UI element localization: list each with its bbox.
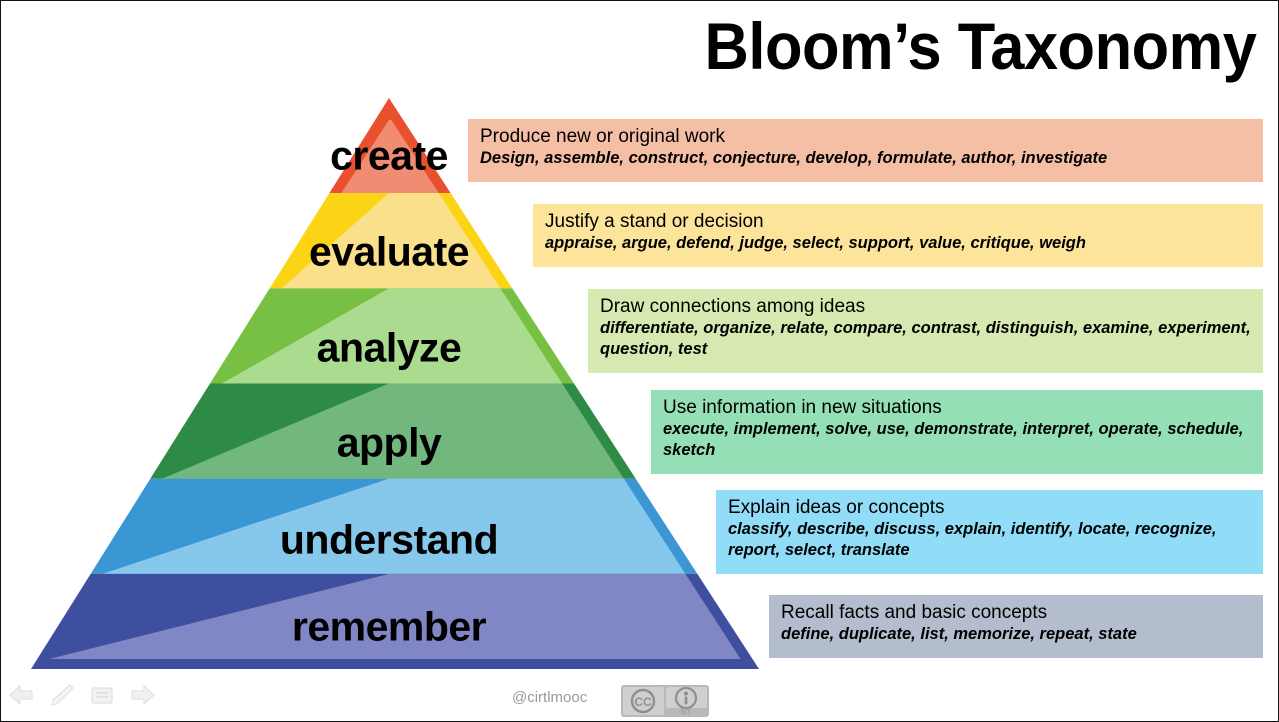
notes-icon[interactable] (89, 683, 115, 707)
pyramid-label-understand: understand (280, 517, 498, 564)
forward-arrow-icon[interactable] (129, 683, 157, 707)
pyramid-label-analyze: analyze (317, 325, 462, 372)
description-box-remember: Recall facts and basic conceptsdefine, d… (769, 595, 1263, 658)
back-arrow-icon[interactable] (7, 683, 35, 707)
credit-handle: @cirtlmooc (512, 689, 587, 706)
description-verbs-apply: execute, implement, solve, use, demonstr… (663, 419, 1263, 461)
description-verbs-create: Design, assemble, construct, conjecture,… (480, 148, 1263, 169)
description-box-evaluate: Justify a stand or decisionappraise, arg… (533, 204, 1263, 267)
description-heading-create: Produce new or original work (480, 125, 1263, 148)
by-text: BY (680, 707, 692, 716)
description-heading-apply: Use information in new situations (663, 396, 1263, 419)
description-verbs-remember: define, duplicate, list, memorize, repea… (781, 624, 1263, 645)
pyramid-label-apply: apply (337, 420, 442, 467)
description-heading-understand: Explain ideas or concepts (728, 496, 1263, 519)
cc-text: CC (634, 695, 652, 709)
description-box-apply: Use information in new situationsexecute… (651, 390, 1263, 474)
pencil-icon[interactable] (49, 683, 75, 707)
description-verbs-analyze: differentiate, organize, relate, compare… (600, 318, 1263, 360)
creative-commons-by-badge[interactable]: CC BY (621, 685, 709, 717)
description-heading-evaluate: Justify a stand or decision (545, 210, 1263, 233)
pyramid-label-evaluate: evaluate (309, 229, 469, 276)
blooms-taxonomy-slide: Bloom’s Taxonomy createevaluateanalyzeap… (0, 0, 1279, 722)
description-box-understand: Explain ideas or conceptsclassify, descr… (716, 490, 1263, 574)
description-verbs-evaluate: appraise, argue, defend, judge, select, … (545, 233, 1263, 254)
description-heading-analyze: Draw connections among ideas (600, 295, 1263, 318)
description-box-create: Produce new or original workDesign, asse… (468, 119, 1263, 182)
pyramid-label-create: create (330, 133, 448, 180)
pyramid-label-remember: remember (292, 604, 486, 651)
page-title: Bloom’s Taxonomy (704, 9, 1256, 83)
description-verbs-understand: classify, describe, discuss, explain, id… (728, 519, 1263, 561)
nav-icon-group[interactable] (7, 683, 157, 707)
description-box-analyze: Draw connections among ideasdifferentiat… (588, 289, 1263, 373)
description-heading-remember: Recall facts and basic concepts (781, 601, 1263, 624)
